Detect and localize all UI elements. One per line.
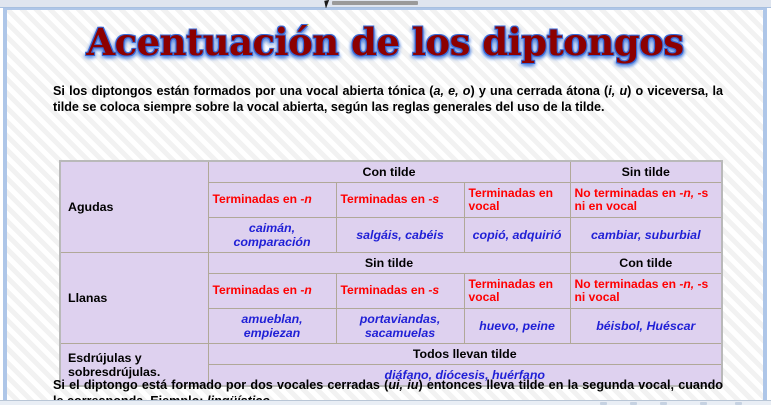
table-row-esdrujulas-rule: Esdrújulas y sobresdrújulas. Todos lleva…: [60, 344, 722, 365]
agudas-subhead-none-suffix1: -n,: [679, 186, 694, 200]
accentuation-rules-table: Agudas Con tilde Sin tilde Terminadas en…: [59, 160, 723, 387]
agudas-example-none: cambiar, suburbial: [570, 218, 722, 253]
table-row-llanas-groups: Llanas Sin tilde Con tilde: [60, 253, 722, 274]
agudas-subhead-s-suffix: -s: [428, 192, 439, 206]
llanas-example-vocal: huevo, peine: [464, 309, 570, 344]
page-content-frame: Acentuación de los diptongos Si los dipt…: [3, 8, 767, 401]
llanas-subhead-n-text: Terminadas en: [213, 283, 301, 297]
agudas-subhead-n-suffix: -n: [300, 192, 311, 206]
agudas-subhead-s-text: Terminadas en: [341, 192, 429, 206]
title-banner: Acentuación de los diptongos: [7, 20, 763, 72]
llanas-subhead-none: No terminadas en -n, -s ni vocal: [570, 274, 722, 309]
agudas-group-left: Con tilde: [208, 161, 570, 183]
intro-paragraph: Si los diptongos están formados por una …: [53, 84, 723, 115]
agudas-subhead-n: Terminadas en -n: [208, 183, 336, 218]
llanas-subhead-n-suffix: -n: [300, 283, 311, 297]
agudas-group-right: Sin tilde: [570, 161, 722, 183]
llanas-subhead-s-text: Terminadas en: [341, 283, 429, 297]
agudas-subhead-none-text: No terminadas en: [575, 186, 680, 200]
llanas-subhead-none-text: No terminadas en: [575, 277, 680, 291]
intro-text-part2: ) y una cerrada átona (: [471, 84, 609, 98]
closing-text-part1: Si el diptongo está formado por dos voca…: [53, 378, 388, 392]
llanas-subhead-s: Terminadas en -s: [336, 274, 464, 309]
closing-vowels: ui, iu: [388, 378, 418, 392]
table-row-agudas-groups: Agudas Con tilde Sin tilde: [60, 161, 722, 183]
agudas-example-vocal: copió, adquirió: [464, 218, 570, 253]
intro-open-vowels: a, e, o: [433, 84, 470, 98]
closing-paragraph: Si el diptongo está formado por dos voca…: [53, 378, 723, 401]
agudas-subhead-vocal: Terminadas en vocal: [464, 183, 570, 218]
page-title: Acentuación de los diptongos: [86, 20, 683, 64]
horizontal-scrollbar-thumb[interactable]: [332, 1, 418, 5]
agudas-subhead-none: No terminadas en -n, -s ni en vocal: [570, 183, 722, 218]
llanas-example-s: portaviandas, sacamuelas: [336, 309, 464, 344]
browser-top-strip: [0, 0, 771, 8]
llanas-example-none: béisbol, Huéscar: [570, 309, 722, 344]
intro-closed-vowels: i, u: [608, 84, 627, 98]
llanas-example-n: amueblan, empiezan: [208, 309, 336, 344]
llanas-subhead-n: Terminadas en -n: [208, 274, 336, 309]
esdrujulas-rule: Todos llevan tilde: [208, 344, 722, 365]
llanas-subhead-s-suffix: -s: [428, 283, 439, 297]
agudas-example-n: caimán, comparación: [208, 218, 336, 253]
category-agudas: Agudas: [60, 161, 208, 253]
llanas-group-left: Sin tilde: [208, 253, 570, 274]
taskbar: [0, 400, 771, 405]
llanas-group-right: Con tilde: [570, 253, 722, 274]
intro-text-part1: Si los diptongos están formados por una …: [53, 84, 433, 98]
category-llanas: Llanas: [60, 253, 208, 344]
llanas-subhead-vocal: Terminadas en vocal: [464, 274, 570, 309]
agudas-subhead-s: Terminadas en -s: [336, 183, 464, 218]
agudas-example-s: salgáis, cabéis: [336, 218, 464, 253]
agudas-subhead-n-text: Terminadas en: [213, 192, 301, 206]
llanas-subhead-none-suffix1: -n,: [679, 277, 694, 291]
